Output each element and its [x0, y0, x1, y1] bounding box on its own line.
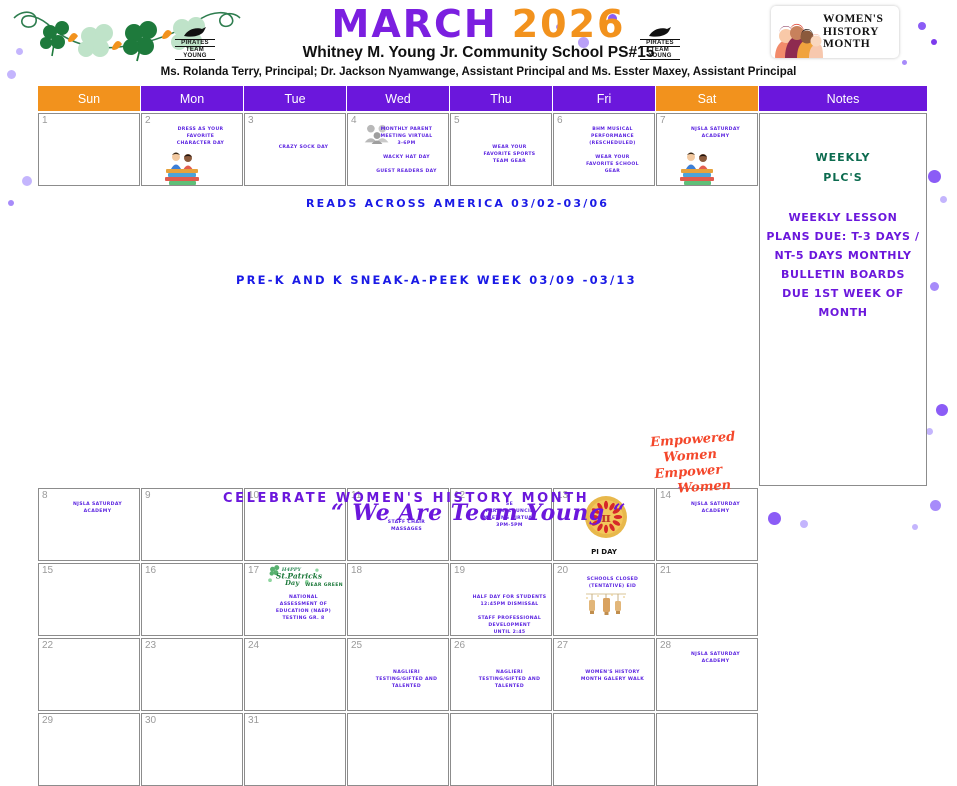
- day-number: 2: [145, 115, 151, 126]
- day-events: NATIONALASSESSMENT OFEDUCATION (NAEP)TES…: [265, 594, 342, 622]
- day-number: 28: [660, 640, 671, 651]
- day-cell-5[interactable]: 5WEAR YOURFAVORITE SPORTSTEAM GEAR: [450, 113, 552, 186]
- day-number: 22: [42, 640, 53, 651]
- day-cell-empty[interactable]: [656, 713, 758, 786]
- day-cell-25[interactable]: 25NAGLIERITESTING/GIFTED ANDTALENTED: [347, 638, 449, 711]
- day-number: 4: [351, 115, 357, 126]
- notes-body: WEEKLY LESSON PLANS DUE: T-3 DAYS / NT-5…: [760, 208, 926, 322]
- day-cell-20[interactable]: 20 SCHOOLS CLOSED(TENTATIVE) EID: [553, 563, 655, 636]
- womens-history-month-card: WOMEN'S HISTORY MONTH: [771, 6, 899, 58]
- day-events: WOMEN'S HISTORYMONTH GALERY WALK: [574, 669, 651, 683]
- eid-lanterns-icon: [582, 590, 630, 622]
- banner-2: PRE-K AND K SNEAK-A-PEEK WEEK 03/09 -03/…: [236, 273, 637, 287]
- day-number: 5: [454, 115, 460, 126]
- day-number: 19: [454, 565, 465, 576]
- decor-dot: [8, 200, 14, 206]
- decor-dot: [926, 428, 933, 435]
- day-cell-empty[interactable]: [347, 713, 449, 786]
- day-events: MONTHLY PARENTMEETING VIRTUAL3-6PMWACKY …: [368, 126, 445, 175]
- day-number: 15: [42, 565, 53, 576]
- day-cell-22[interactable]: 22: [38, 638, 140, 711]
- women-illustration-icon: [771, 6, 823, 58]
- day-cell-16[interactable]: 16: [141, 563, 243, 636]
- weekday-header-sun: Sun: [38, 86, 140, 111]
- notes-content: WEEKLYPLC'SWEEKLY LESSON PLANS DUE: T-3 …: [760, 148, 926, 322]
- day-events: WEAR YOURFAVORITE SPORTSTEAM GEAR: [471, 144, 548, 165]
- day-events: SCHOOLS CLOSED(TENTATIVE) EID: [574, 576, 651, 590]
- day-cell-30[interactable]: 30: [141, 713, 243, 786]
- weekday-header-wed: Wed: [347, 86, 449, 111]
- day-cell-24[interactable]: 24: [244, 638, 346, 711]
- whm-line3: MONTH: [823, 38, 883, 51]
- day-events: NJSLA SATURDAYACADEMY: [677, 651, 754, 665]
- weekday-header-fri: Fri: [553, 86, 655, 111]
- day-number: 23: [145, 640, 156, 651]
- day-cell-26[interactable]: 26NAGLIERITESTING/GIFTED ANDTALENTED: [450, 638, 552, 711]
- notes-panel[interactable]: WEEKLYPLC'SWEEKLY LESSON PLANS DUE: T-3 …: [759, 113, 927, 486]
- day-cell-15[interactable]: 15: [38, 563, 140, 636]
- school-slogan: “ We Are Team Young “: [0, 500, 957, 526]
- day-cell-18[interactable]: 18: [347, 563, 449, 636]
- kids-reading-books-icon: [162, 149, 202, 185]
- calendar-week-row: 151617 H4PPY St.Patricks Day NATIONALASS…: [38, 563, 920, 636]
- weekday-header-thu: Thu: [450, 86, 552, 111]
- day-cell-empty[interactable]: [553, 713, 655, 786]
- day-cell-6[interactable]: 6BHM MUSICALPERFORMANCE(RESCHEDULED)WEAR…: [553, 113, 655, 186]
- plc-line1: WEEKLY: [760, 148, 926, 168]
- calendar-weeks: 12 DRESS AS YOURFAVORITECHARACTER DAY3CR…: [38, 113, 920, 786]
- day-number: 17: [248, 565, 259, 576]
- day-cell-27[interactable]: 27WOMEN'S HISTORYMONTH GALERY WALK: [553, 638, 655, 711]
- page-header: PIRATES TEAM YOUNG PIRATES TEAM YOUNG MA…: [0, 0, 957, 86]
- day-number: 26: [454, 640, 465, 651]
- svg-text:St.Patricks: St.Patricks: [276, 572, 323, 581]
- svg-text:Day: Day: [284, 579, 300, 587]
- day-cell-3[interactable]: 3CRAZY SOCK DAY: [244, 113, 346, 186]
- weekday-header-mon: Mon: [141, 86, 243, 111]
- day-number: 31: [248, 715, 259, 726]
- plc-line2: PLC'S: [760, 168, 926, 188]
- day-number: 24: [248, 640, 259, 651]
- day-events: NAGLIERITESTING/GIFTED ANDTALENTED: [368, 669, 445, 690]
- day-number: 3: [248, 115, 254, 126]
- day-events: BHM MUSICALPERFORMANCE(RESCHEDULED)WEAR …: [574, 126, 651, 175]
- wear-green-tag: WEAR GREEN: [305, 582, 343, 589]
- day-events: CRAZY SOCK DAY: [265, 144, 342, 151]
- day-events: DRESS AS YOURFAVORITECHARACTER DAY: [162, 126, 239, 147]
- calendar: SunMonTueWedThuFriSatNotes 12 DRESS AS Y…: [38, 86, 920, 786]
- day-events: HALF DAY FOR STUDENTS12:45PM DISMISSALST…: [471, 594, 548, 636]
- pi-day-caption: PI DAY: [554, 548, 654, 556]
- day-number: 6: [557, 115, 563, 126]
- day-number: 25: [351, 640, 362, 651]
- day-number: 18: [351, 565, 362, 576]
- day-cell-19[interactable]: 19HALF DAY FOR STUDENTS12:45PM DISMISSAL…: [450, 563, 552, 636]
- decor-dot: [22, 176, 32, 186]
- calendar-week-row: 12 DRESS AS YOURFAVORITECHARACTER DAY3CR…: [38, 113, 920, 486]
- day-cell-1[interactable]: 1: [38, 113, 140, 186]
- day-number: 27: [557, 640, 568, 651]
- day-cell-7[interactable]: 7 NJSLA SATURDAYACADEMY: [656, 113, 758, 186]
- day-number: 29: [42, 715, 53, 726]
- day-cell-23[interactable]: 23: [141, 638, 243, 711]
- day-cell-4[interactable]: 4 MONTHLY PARENTMEETING VIRTUAL3-6PMWACK…: [347, 113, 449, 186]
- day-cell-21[interactable]: 21: [656, 563, 758, 636]
- weekday-header-tue: Tue: [244, 86, 346, 111]
- day-number: 20: [557, 565, 568, 576]
- weekday-header-sat: Sat: [656, 86, 758, 111]
- weekday-header-notes: Notes: [759, 86, 927, 111]
- day-number: 21: [660, 565, 671, 576]
- day-number: 7: [660, 115, 666, 126]
- whm-line2: HISTORY: [823, 26, 883, 39]
- day-cell-29[interactable]: 29: [38, 713, 140, 786]
- day-cell-17[interactable]: 17 H4PPY St.Patricks Day NATIONALASSESSM…: [244, 563, 346, 636]
- banner-1: READS ACROSS AMERICA 03/02-03/06: [306, 197, 609, 210]
- day-cell-28[interactable]: 28NJSLA SATURDAYACADEMY: [656, 638, 758, 711]
- day-events: NAGLIERITESTING/GIFTED ANDTALENTED: [471, 669, 548, 690]
- decor-dot: [936, 404, 948, 416]
- decor-dot: [930, 282, 939, 291]
- weekday-header-row: SunMonTueWedThuFriSatNotes: [38, 86, 920, 111]
- day-cell-31[interactable]: 31: [244, 713, 346, 786]
- day-number: 1: [42, 115, 48, 126]
- day-cell-empty[interactable]: [450, 713, 552, 786]
- kids-reading-books-icon: [677, 149, 717, 185]
- decor-dot: [940, 196, 947, 203]
- month-label: MARCH: [332, 2, 498, 46]
- calendar-week-row: 22232425NAGLIERITESTING/GIFTED ANDTALENT…: [38, 638, 920, 711]
- day-number: 30: [145, 715, 156, 726]
- day-number: 16: [145, 565, 156, 576]
- day-events: NJSLA SATURDAYACADEMY: [677, 126, 754, 140]
- year-label: 2026: [512, 2, 626, 46]
- whm-line1: WOMEN'S: [823, 13, 883, 26]
- calendar-week-row: 293031: [38, 713, 920, 786]
- administrators-line: Ms. Rolanda Terry, Principal; Dr. Jackso…: [0, 66, 957, 78]
- whm-text-block: WOMEN'S HISTORY MONTH: [823, 13, 883, 51]
- empowered-women-art: EmpoweredWomenEmpowerWomen: [650, 429, 751, 504]
- decor-dot: [928, 170, 941, 183]
- day-cell-2[interactable]: 2 DRESS AS YOURFAVORITECHARACTER DAY: [141, 113, 243, 186]
